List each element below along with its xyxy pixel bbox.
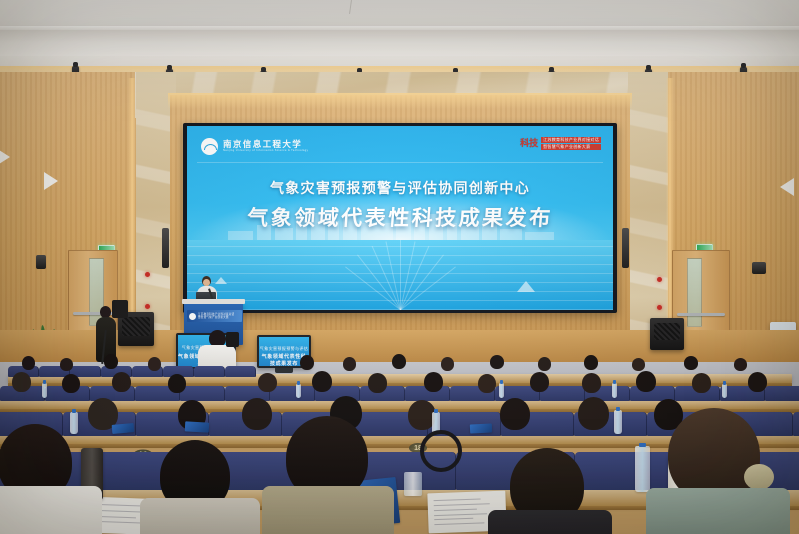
- podium-banner: 江苏教育科技产业界对接对话 暨智慧气象产业创新大赛: [187, 310, 242, 322]
- wall-triangle-decor-left-top: [0, 148, 10, 166]
- attendee-head: [104, 354, 118, 369]
- attendee-head: [490, 355, 504, 369]
- water-bottle[interactable]: [722, 384, 727, 398]
- wave-circle-logo-icon: [201, 138, 218, 155]
- attendee-head: [60, 358, 73, 371]
- attendee-head: [62, 374, 80, 393]
- wall-speaker-right: [622, 228, 629, 268]
- attendee-head: [478, 374, 496, 393]
- university-name-en: Nanjing University of Information Scienc…: [223, 150, 308, 153]
- screen-perspective-rays: [187, 240, 613, 310]
- fire-alarm-left-2: [145, 304, 150, 309]
- gimbal-camera-rig-center: [226, 332, 239, 347]
- conference-brochure[interactable]: [185, 421, 209, 432]
- attendee-head: [582, 373, 601, 393]
- attendee-head: [578, 397, 609, 430]
- podium-banner-line-2: 暨智慧气象产业创新大赛: [198, 316, 234, 319]
- attendee-torso: [488, 510, 612, 534]
- presenter-face: [203, 279, 210, 286]
- attendee-head: [500, 398, 530, 430]
- wall-speaker-left: [162, 228, 169, 268]
- door-glass-panel: [687, 258, 702, 327]
- attendee-head: [748, 372, 767, 392]
- foreground-attendee-center-left: [140, 440, 260, 534]
- attendee-head: [343, 357, 356, 371]
- university-seal-icon: [189, 313, 196, 320]
- gimbal-camera-rig-left: [112, 300, 128, 318]
- chair-row-far: [8, 366, 256, 377]
- conference-brochure[interactable]: [112, 423, 135, 434]
- attendee-head: [692, 373, 711, 393]
- seat[interactable]: [765, 386, 799, 401]
- floor-speaker-right: [650, 318, 684, 350]
- wall-triangle-decor-right: [780, 178, 794, 196]
- attendee-torso: [262, 486, 394, 534]
- attendee-head: [734, 358, 747, 371]
- led-presentation-screen[interactable]: 南京信息工程大学 Nanjing University of Informati…: [187, 126, 613, 310]
- monitor-stand: [275, 368, 293, 373]
- water-bottle[interactable]: [614, 410, 622, 434]
- attendee-head: [441, 357, 454, 371]
- foreground-attendee-center-right: [488, 448, 612, 534]
- wall-triangle-decor-left: [44, 172, 58, 190]
- university-name-cn: 南京信息工程大学: [223, 140, 308, 149]
- attendee-torso: [140, 498, 260, 534]
- monitor-line-1: 气象灾害预报预警与评估: [259, 346, 309, 352]
- attendee-head: [168, 374, 186, 393]
- water-bottle[interactable]: [499, 383, 504, 398]
- ceiling-lower: [0, 30, 799, 58]
- glass-tumbler[interactable]: [404, 472, 422, 496]
- screen-divider: [197, 162, 603, 163]
- attendee-head: [636, 371, 656, 392]
- seat[interactable]: [793, 412, 799, 436]
- attendee-head: [22, 356, 35, 370]
- foreground-attendee-left: [0, 424, 102, 534]
- screen-cove-light: [168, 93, 632, 109]
- attendee-head: [148, 357, 161, 371]
- screen-title-line-2: 气象领域代表性科技成果发布: [187, 202, 613, 232]
- conference-hall-photo: 南京信息工程大学 Nanjing University of Informati…: [0, 0, 799, 534]
- fire-alarm-right: [657, 277, 662, 282]
- attendee-head: [12, 372, 31, 392]
- attendee-head: [530, 372, 549, 392]
- wall-mount-bracket-left: [36, 255, 46, 269]
- podium-top-surface: [182, 299, 245, 304]
- hair-scrunchie: [744, 464, 774, 490]
- seat[interactable]: [225, 366, 256, 377]
- sponsor-logo: 科技 江苏教育科技产业界对接对话 暨智慧气象产业创新大赛: [520, 137, 601, 150]
- screen-pyramid-right-icon: [517, 281, 535, 292]
- seat[interactable]: [194, 366, 225, 377]
- wall-mount-bracket-right: [752, 262, 766, 274]
- attendee-head: [300, 355, 314, 370]
- attendee-torso: [646, 488, 790, 534]
- fire-alarm-right-2: [657, 305, 662, 310]
- seat[interactable]: [270, 386, 315, 401]
- water-bottle[interactable]: [296, 384, 301, 398]
- sponsor-line-1: 江苏教育科技产业界对接对话: [541, 137, 601, 143]
- attendee-head: [584, 355, 598, 370]
- water-bottle[interactable]: [612, 383, 617, 398]
- attendee-head: [258, 373, 277, 392]
- foreground-attendee-center: [262, 416, 394, 534]
- attendee-head: [112, 372, 131, 392]
- door-push-bar[interactable]: [677, 313, 724, 316]
- foreground-attendee-right: [640, 408, 790, 534]
- attendee-head: [538, 357, 551, 371]
- attendee-head: [392, 354, 406, 369]
- attendee-head: [424, 372, 443, 392]
- sponsor-line-2: 暨智慧气象产业创新大赛: [541, 144, 601, 150]
- headband-accessory: [420, 430, 462, 472]
- screen-title-line-1: 气象灾害预报预警与评估协同创新中心: [187, 178, 613, 198]
- university-logo: 南京信息工程大学 Nanjing University of Informati…: [201, 138, 308, 155]
- water-bottle[interactable]: [42, 383, 47, 398]
- attendee-head: [684, 356, 698, 370]
- attendee-head: [632, 358, 645, 371]
- attendee-head: [368, 373, 387, 393]
- attendee-head: [312, 371, 332, 392]
- sponsor-mark-cn: 科技: [520, 139, 538, 148]
- conference-brochure[interactable]: [470, 423, 492, 433]
- attendee-torso: [0, 486, 102, 534]
- fire-alarm-left: [145, 272, 150, 277]
- seat[interactable]: [180, 386, 225, 401]
